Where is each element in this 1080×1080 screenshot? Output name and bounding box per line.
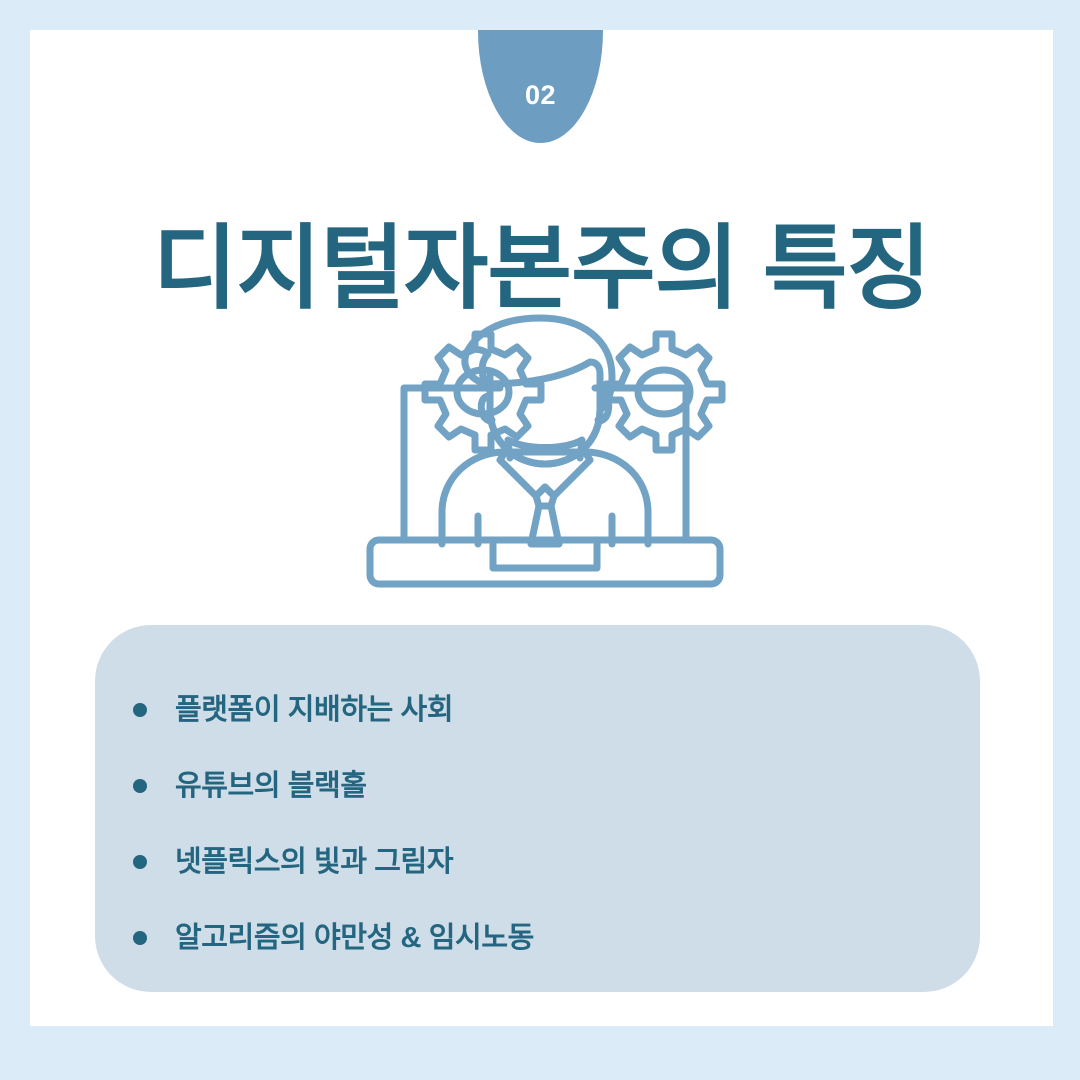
bullet-item-label: 플랫폼이 지배하는 사회 (175, 693, 453, 728)
list-item: 플랫폼이 지배하는 사회 (133, 672, 980, 748)
section-number-text: 02 (525, 64, 556, 109)
bullet-dot-icon (133, 779, 147, 793)
slide-root: 02 디지털자본주의 특징 (0, 0, 1080, 1080)
bullet-dot-icon (133, 855, 147, 869)
bullet-item-label: 알고리즘의 야만성 & 임시노동 (175, 921, 534, 956)
bullet-dot-icon (133, 703, 147, 717)
illustration-person-in-monitor-with-gears (350, 300, 740, 600)
bullet-panel: 플랫폼이 지배하는 사회 유튜브의 블랙홀 넷플릭스의 빛과 그림자 알고리즘의… (95, 625, 980, 992)
section-number-badge: 02 (478, 30, 603, 143)
gear-right-icon (606, 334, 722, 450)
bullet-dot-icon (133, 931, 147, 945)
bullet-item-label: 유튜브의 블랙홀 (175, 769, 367, 804)
list-item: 넷플릭스의 빛과 그림자 (133, 824, 980, 900)
necktie-icon (531, 487, 559, 544)
bullet-item-label: 넷플릭스의 빛과 그림자 (175, 845, 453, 880)
bullet-list: 플랫폼이 지배하는 사회 유튜브의 블랙홀 넷플릭스의 빛과 그림자 알고리즘의… (95, 625, 980, 976)
list-item: 알고리즘의 야만성 & 임시노동 (133, 900, 980, 976)
list-item: 유튜브의 블랙홀 (133, 748, 980, 824)
content-card: 02 디지털자본주의 특징 (30, 30, 1053, 1026)
